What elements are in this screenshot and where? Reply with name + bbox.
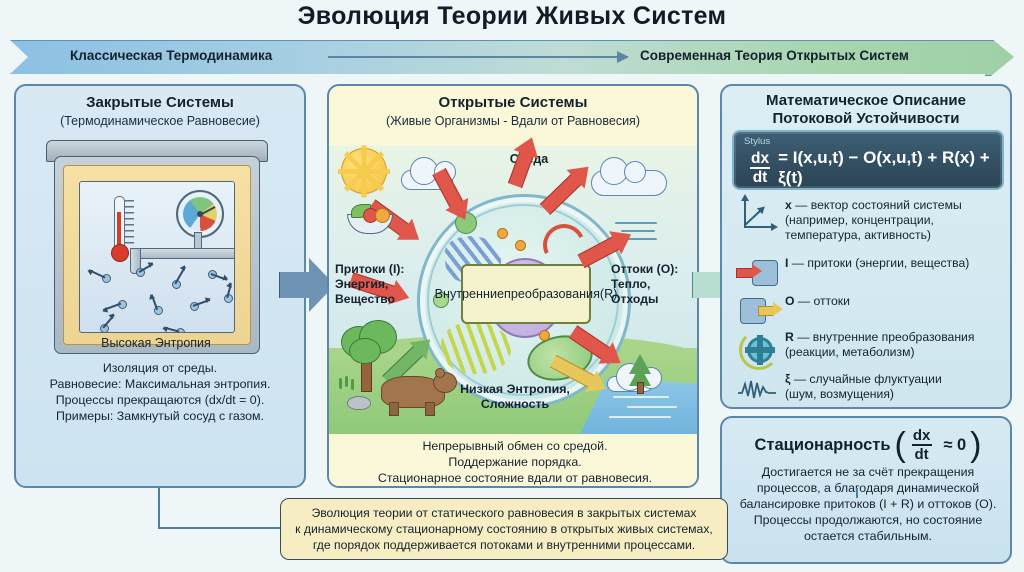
- open-panel-subheading: (Живые Организмы - Вдали от Равновесия): [329, 114, 697, 128]
- waveform-icon: [736, 372, 776, 406]
- steady-state-title-row: Стационарность ( dx dt ≈ 0 ): [722, 428, 1014, 462]
- axes-icon: [736, 198, 776, 232]
- internal-transformations-box: Внутренниепреобразования(R): [461, 264, 591, 324]
- derivative-numerator: dx: [748, 151, 772, 168]
- steady-fraction: dx dt: [910, 428, 934, 462]
- open-panel-heading: Открытые Системы: [329, 94, 697, 111]
- vessel-outer-shell: [54, 156, 260, 354]
- vesicle: [497, 228, 508, 239]
- steady-state-body: Достигается не за счёт прекращения проце…: [734, 464, 1002, 544]
- steady-state-panel: Стационарность ( dx dt ≈ 0 ) Достигается…: [720, 416, 1012, 564]
- vessel-interior: [79, 181, 235, 333]
- connector-line-to-summary: [158, 527, 282, 529]
- open-systems-panel: Открытые Системы (Живые Организмы - Вдал…: [327, 84, 699, 488]
- infographic-page: Эволюция Теории Живых Систем Классическа…: [0, 0, 1024, 572]
- bear-leg: [389, 402, 399, 416]
- derivative-fraction: dx dt: [748, 151, 772, 186]
- low-entropy-note: Низкая Энтропия,Сложность: [425, 382, 605, 412]
- fir-trunk: [637, 382, 644, 394]
- math-panel-heading-2: Потоковой Устойчивости: [722, 110, 1010, 127]
- page-title: Эволюция Теории Живых Систем: [0, 2, 1024, 31]
- legend-item-o: O — оттоки: [736, 294, 1002, 328]
- evolution-banner: Классическая Термодинамика Современная Т…: [10, 40, 1014, 74]
- master-equation: dx dt = I(x,u,t) − O(x,u,t) + R(x) + ξ(t…: [748, 148, 1002, 188]
- banner-label-classical: Классическая Термодинамика: [70, 48, 272, 63]
- thermometer-icon: [110, 196, 126, 262]
- inflow-label: Притоки (I):Энергия,Вещество: [335, 262, 405, 307]
- equation-box: Stylus dx dt = I(x,u,t) − O(x,u,t) + R(x…: [732, 130, 1004, 190]
- paren-close: ): [970, 431, 981, 459]
- sun-icon: [341, 148, 387, 194]
- connector-closed-to-summary: [158, 488, 160, 528]
- math-description-panel: Математическое Описание Потоковой Устойч…: [720, 84, 1012, 409]
- derivative-denominator: dt: [750, 167, 771, 186]
- vesicle: [515, 240, 526, 251]
- paren-open: (: [895, 431, 906, 459]
- steady-numerator: dx: [910, 428, 934, 444]
- cloud-icon: [591, 170, 667, 196]
- equation-rhs: = I(x,u,t) − O(x,u,t) + R(x) + ξ(t): [778, 148, 1002, 188]
- legend-item-xi: ξ — случайные флуктуации(шум, возмущения…: [736, 372, 1002, 406]
- waveform-svg: [738, 378, 776, 400]
- gauge-pipe: [130, 248, 235, 259]
- bear-ear: [435, 368, 445, 378]
- outflow-arrow-icon: [736, 294, 776, 328]
- steady-relation: ≈ 0: [943, 436, 966, 455]
- closed-panel-heading: Закрытые Системы: [16, 94, 304, 111]
- legend-item-x: x — вектор состояний системы(например, к…: [736, 198, 1002, 243]
- closed-vessel-illustration: Высокая Энтропия: [36, 140, 276, 352]
- steady-state-title: Стационарность: [755, 436, 891, 455]
- closed-panel-subheading: (Термодинамическое Равновесие): [16, 114, 304, 128]
- outflow-label: Оттоки (O):Тепло,Отходы: [611, 262, 678, 307]
- orange-icon: [375, 208, 390, 223]
- open-panel-caption: Непрерывный обмен со средой.Поддержание …: [337, 438, 693, 486]
- inflow-arrow-icon: [736, 256, 776, 290]
- closed-entropy-label: Высокая Энтропия: [54, 336, 258, 350]
- rock-icon: [347, 396, 371, 410]
- pressure-gauge-icon: [176, 190, 224, 238]
- closed-panel-caption: Изоляция от среды.Равновесие: Максимальн…: [18, 360, 302, 424]
- legend-item-i: I — притоки (энергии, вещества): [736, 256, 1002, 290]
- summary-box: Эволюция теории от статического равновес…: [280, 498, 728, 560]
- tree-crown: [349, 338, 381, 364]
- golgi-apparatus: [441, 322, 511, 374]
- gear-cycle-icon: [736, 330, 776, 364]
- summary-text: Эволюция теории от статического равновес…: [295, 505, 713, 553]
- vesicle: [539, 330, 550, 341]
- connector-steady: [856, 488, 858, 498]
- banner-label-modern: Современная Теория Открытых Систем: [640, 48, 909, 63]
- math-panel-heading-1: Математическое Описание: [722, 92, 1010, 109]
- legend-item-r: R — внутренние преобразования(реакции, м…: [736, 330, 1002, 364]
- banner-direction-arrow-icon: [328, 56, 628, 58]
- equation-tag: Stylus: [744, 136, 770, 147]
- steady-denominator: dt: [912, 444, 932, 462]
